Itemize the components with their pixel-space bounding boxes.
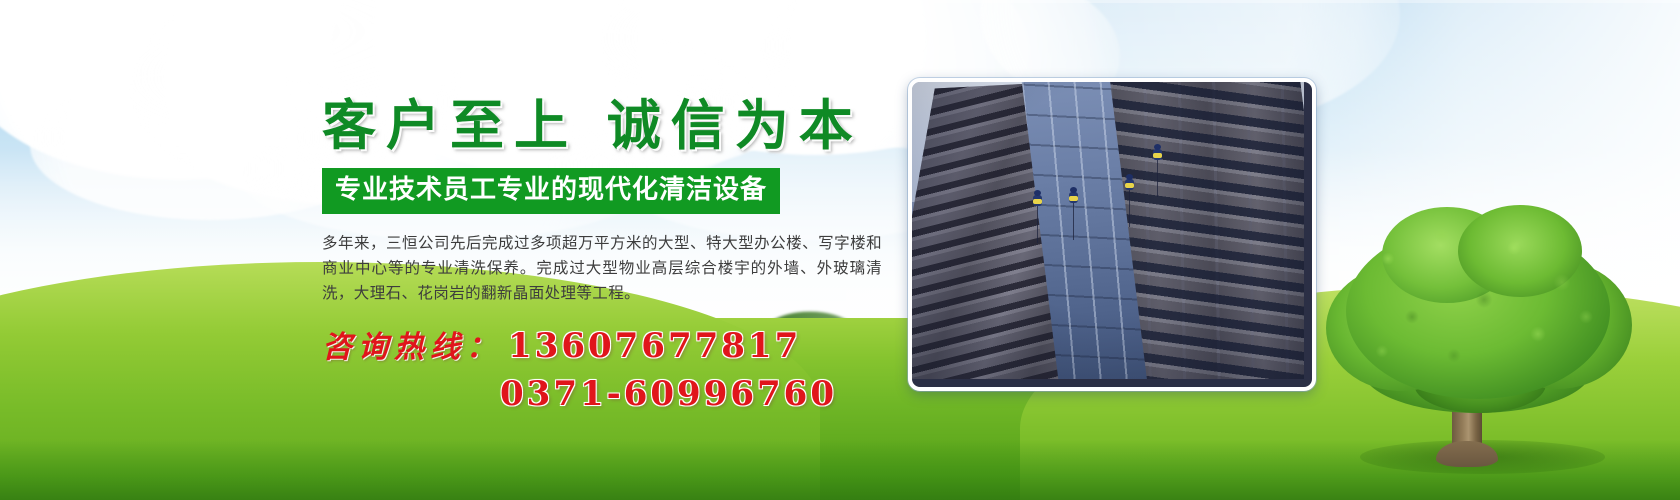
building-photo-frame <box>908 78 1316 391</box>
banner-body-copy: 多年来，三恒公司先后完成过多项超万平方米的大型、特大型办公楼、写字楼和商业中心等… <box>322 231 882 306</box>
hotline-label: 咨询热线： <box>322 330 502 365</box>
banner-body-paragraph: 多年来，三恒公司先后完成过多项超万平方米的大型、特大型办公楼、写字楼和商业中心等… <box>322 231 882 306</box>
promo-banner: 客户至上 诚信为本 专业技术员工专业的现代化清洁设备 多年来，三恒公司先后完成过… <box>0 0 1680 500</box>
building-photo <box>912 82 1304 379</box>
tree-illustration <box>1318 205 1638 485</box>
top-edge-highlight <box>0 0 1680 3</box>
tree-leaf-texture <box>1328 205 1628 420</box>
subtitle-bar: 专业技术员工专业的现代化清洁设备 <box>322 168 780 214</box>
hotline-secondary-number[interactable]: 0371-60996760 <box>500 374 902 414</box>
photo-vignette <box>912 82 1304 379</box>
subtitle-bar-label: 专业技术员工专业的现代化清洁设备 <box>335 175 767 205</box>
banner-headline: 客户至上 诚信为本 <box>322 96 902 154</box>
hotline-block: 咨询热线：13607677817 0371-60996760 <box>322 322 902 414</box>
banner-copy-block: 客户至上 诚信为本 专业技术员工专业的现代化清洁设备 多年来，三恒公司先后完成过… <box>322 96 902 414</box>
hotline-primary-number[interactable]: 13607677817 <box>508 326 801 366</box>
